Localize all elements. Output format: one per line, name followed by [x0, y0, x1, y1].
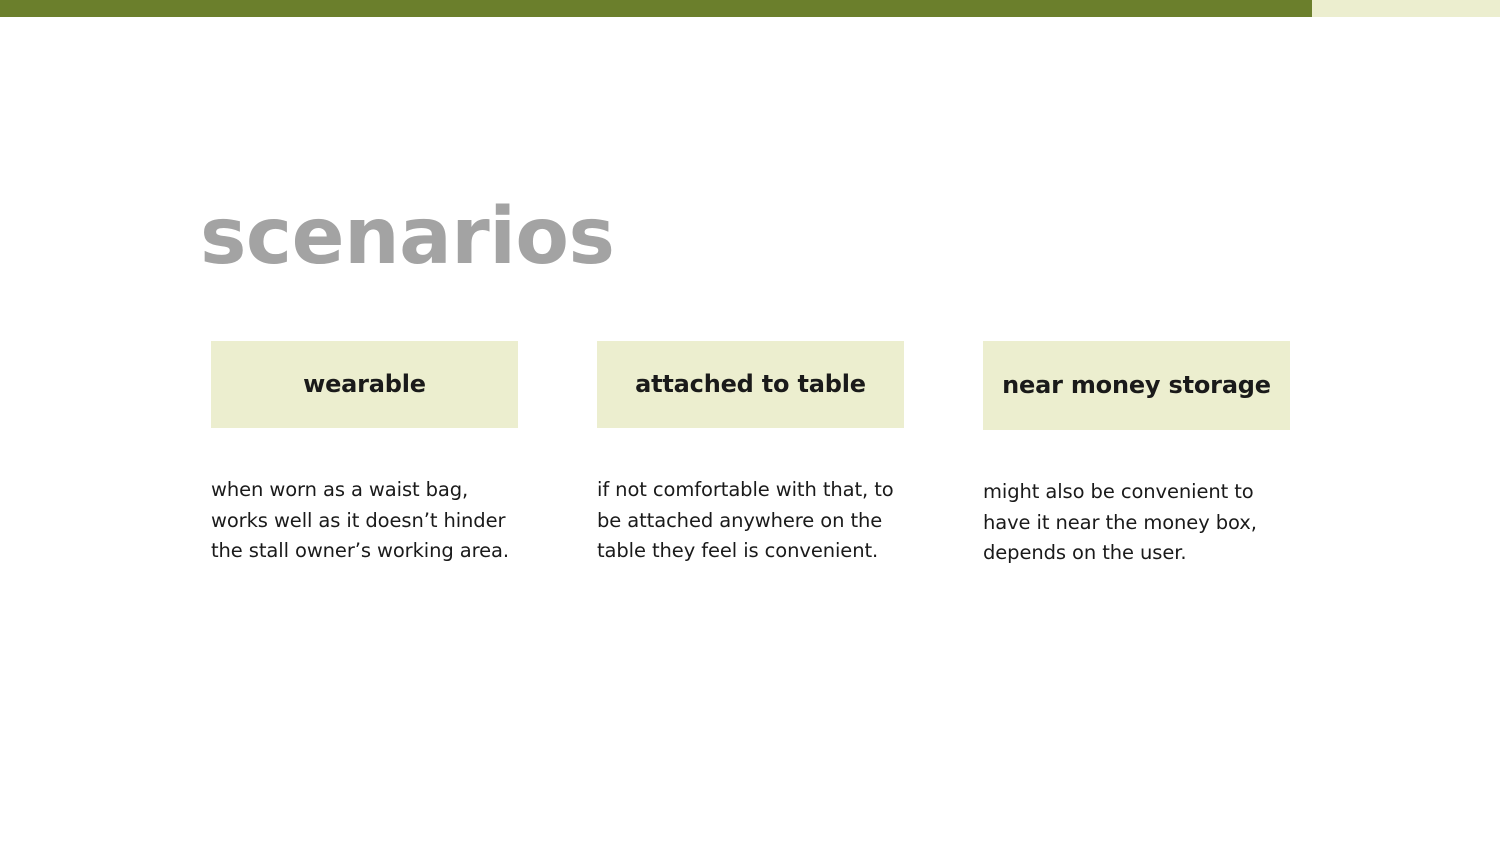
scenario-header-card: near money storage: [983, 341, 1290, 430]
scenario-header-card: attached to table: [597, 341, 904, 428]
scenario-header-card: wearable: [211, 341, 518, 428]
scenario-description-text: if not comfortable with that, to be atta…: [597, 475, 904, 567]
scenario-description-text: when worn as a waist bag, works well as …: [211, 475, 518, 567]
scenario-column-wearable: wearable when worn as a waist bag, works…: [211, 341, 518, 569]
top-bar-green-segment: [0, 0, 1312, 17]
top-bar-cream-segment: [1312, 0, 1500, 17]
scenario-column-attached-to-table: attached to table if not comfortable wit…: [597, 341, 904, 569]
scenario-heading-label: attached to table: [635, 371, 866, 398]
scenario-heading-label: wearable: [303, 371, 426, 398]
scenario-columns: wearable when worn as a waist bag, works…: [211, 341, 1291, 569]
top-decorative-bar: [0, 0, 1500, 17]
scenario-column-near-money-storage: near money storage might also be conveni…: [983, 341, 1290, 569]
scenario-description-text: might also be convenient to have it near…: [983, 477, 1290, 569]
scenario-heading-label: near money storage: [1002, 372, 1271, 399]
page-title: scenarios: [200, 198, 614, 276]
slide-canvas: scenarios wearable when worn as a waist …: [0, 0, 1500, 844]
